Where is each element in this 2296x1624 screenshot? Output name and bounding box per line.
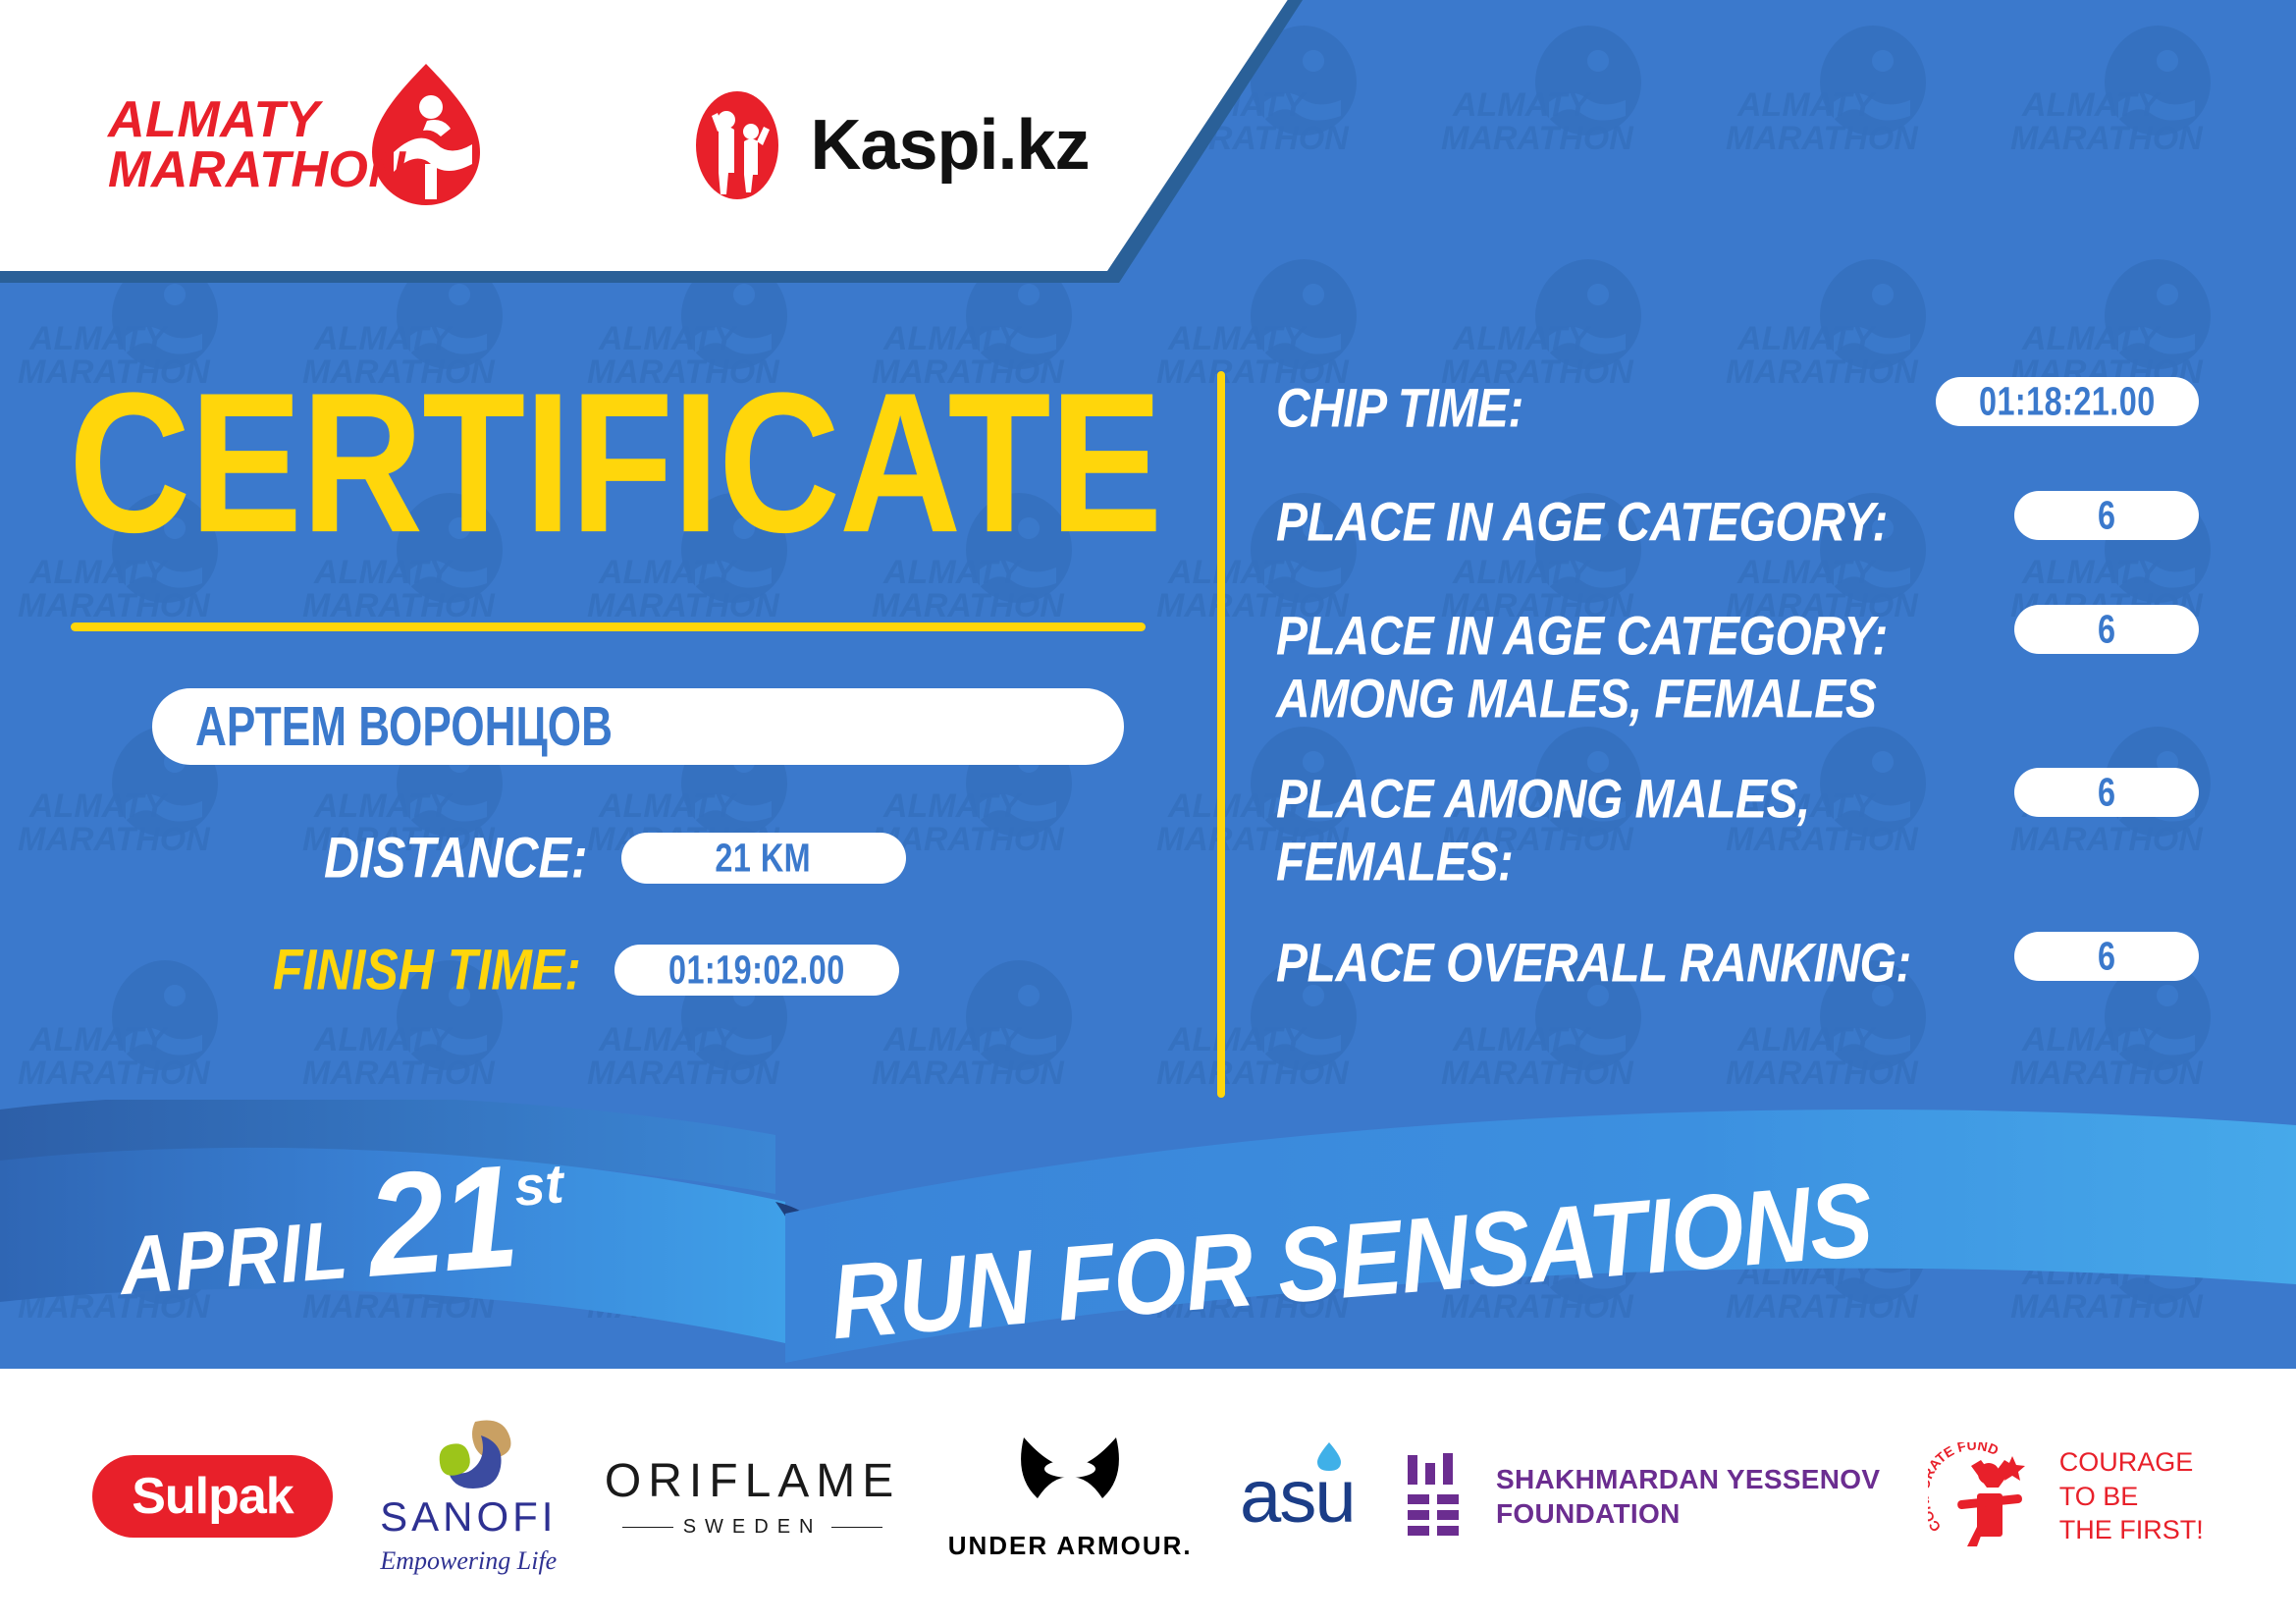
finish-time-value-pill: 01:19:02.00 xyxy=(614,945,899,996)
event-tagline: RUN FOR SENSATIONS xyxy=(827,1160,1876,1364)
participant-name-field: АРТЕМ ВОРОНЦОВ xyxy=(152,688,1124,765)
oriflame-wordmark: ORIFLAME xyxy=(605,1454,900,1508)
participant-name-value: АРТЕМ ВОРОНЦОВ xyxy=(195,695,613,759)
stat-value: 6 xyxy=(2098,770,2115,816)
stat-row-place-age-category: PLACE IN AGE CATEGORY: 6 xyxy=(1276,487,2199,550)
stat-value: 6 xyxy=(2098,933,2115,979)
courage-line-1: COURAGE xyxy=(2059,1445,2204,1480)
left-column: CERTIFICATE АРТЕМ ВОРОНЦОВ DISTANCE: 21 … xyxy=(59,363,1217,999)
distance-row: DISTANCE: 21 KM xyxy=(324,830,1217,887)
yessenov-line-2: FOUNDATION xyxy=(1496,1496,1880,1531)
under-armour-wordmark: UNDER ARMOUR. xyxy=(948,1531,1193,1561)
event-day-ordinal: st xyxy=(512,1151,565,1218)
oriflame-subtitle: SWEDEN xyxy=(683,1516,823,1539)
title-underline xyxy=(71,623,1146,631)
sanofi-wordmark: SANOFI xyxy=(380,1493,557,1541)
courage-runner-icon: CORPORATE FUND xyxy=(1928,1442,2046,1550)
yessenov-line-1: SHAKHMARDAN YESSENOV xyxy=(1496,1462,1880,1496)
sponsor-oriflame: ORIFLAME SWEDEN xyxy=(605,1454,900,1539)
column-divider xyxy=(1217,371,1225,1098)
stat-value-pill: 6 xyxy=(2014,768,2199,817)
stat-label: CHIP TIME: xyxy=(1276,373,1936,441)
sponsor-bar: Sulpak SANOFI Empowering Life ORIFLAME xyxy=(0,1369,2296,1624)
stat-row-chip-time: CHIP TIME: 01:18:21.00 xyxy=(1276,373,2199,436)
sponsor-yessenov-foundation: SHAKHMARDAN YESSENOV FOUNDATION xyxy=(1402,1453,1880,1540)
distance-value: 21 KM xyxy=(716,835,812,881)
distance-label: DISTANCE: xyxy=(324,825,588,891)
sponsor-sulpak: Sulpak xyxy=(92,1455,333,1538)
sanofi-bird-icon xyxy=(414,1418,522,1489)
stat-value-pill: 6 xyxy=(2014,491,2199,540)
event-day: 21 xyxy=(362,1131,521,1310)
sponsor-courage-fund: CORPORATE FUND COURAGE TO BE THE FIRST! xyxy=(1928,1442,2204,1550)
stat-value-pill: 01:18:21.00 xyxy=(1936,377,2199,426)
yessenov-wordmark: SHAKHMARDAN YESSENOV FOUNDATION xyxy=(1496,1462,1880,1531)
finish-time-row: FINISH TIME: 01:19:02.00 xyxy=(273,942,1217,999)
stat-row-place-overall: PLACE OVERALL RANKING: 6 xyxy=(1276,928,2199,991)
finish-time-label: FINISH TIME: xyxy=(273,937,581,1002)
oriflame-rule-right xyxy=(831,1527,882,1528)
sanofi-tagline: Empowering Life xyxy=(380,1546,557,1576)
stat-value-pill: 6 xyxy=(2014,932,2199,981)
oriflame-subtitle-row: SWEDEN xyxy=(605,1516,900,1539)
certificate-page: ALMATY MARATHON ALMATY MARATHON xyxy=(0,0,2296,1624)
stat-row-place-among-gender: PLACE AMONG MALES, FEMALES: 6 xyxy=(1276,764,2199,876)
courage-line-2: TO BE xyxy=(2059,1480,2204,1514)
courage-line-3: THE FIRST! xyxy=(2059,1513,2204,1547)
sponsor-under-armour: UNDER ARMOUR. xyxy=(948,1432,1193,1561)
stat-value: 6 xyxy=(2098,606,2115,652)
event-date: APRIL 21 st xyxy=(113,1132,571,1324)
finish-time-value: 01:19:02.00 xyxy=(668,947,845,993)
sponsor-asu: asu xyxy=(1240,1454,1355,1540)
under-armour-icon xyxy=(1006,1432,1134,1518)
stat-label: PLACE AMONG MALES, FEMALES: xyxy=(1276,764,2014,894)
stat-value: 01:18:21.00 xyxy=(1979,378,2156,424)
asu-drop-icon xyxy=(1312,1440,1346,1474)
stat-row-place-age-category-gender: PLACE IN AGE CATEGORY: AMONG MALES, FEMA… xyxy=(1276,601,2199,713)
stat-label: PLACE OVERALL RANKING: xyxy=(1276,928,2014,996)
page-title: CERTIFICATE xyxy=(69,363,1217,563)
courage-slogan: COURAGE TO BE THE FIRST! xyxy=(2059,1445,2204,1547)
stats-column: CHIP TIME: 01:18:21.00 PLACE IN AGE CATE… xyxy=(1276,373,2199,1042)
sulpak-wordmark: Sulpak xyxy=(92,1455,333,1538)
yessenov-bars-icon xyxy=(1402,1453,1474,1540)
stat-label: PLACE IN AGE CATEGORY: AMONG MALES, FEMA… xyxy=(1276,601,2014,731)
stat-label: PLACE IN AGE CATEGORY: xyxy=(1276,487,2014,555)
oriflame-rule-left xyxy=(622,1527,673,1528)
sponsor-sanofi: SANOFI Empowering Life xyxy=(380,1418,557,1576)
stat-value: 6 xyxy=(2098,492,2115,538)
stat-value-pill: 6 xyxy=(2014,605,2199,654)
event-month: APRIL xyxy=(117,1203,351,1314)
distance-value-pill: 21 KM xyxy=(621,833,906,884)
